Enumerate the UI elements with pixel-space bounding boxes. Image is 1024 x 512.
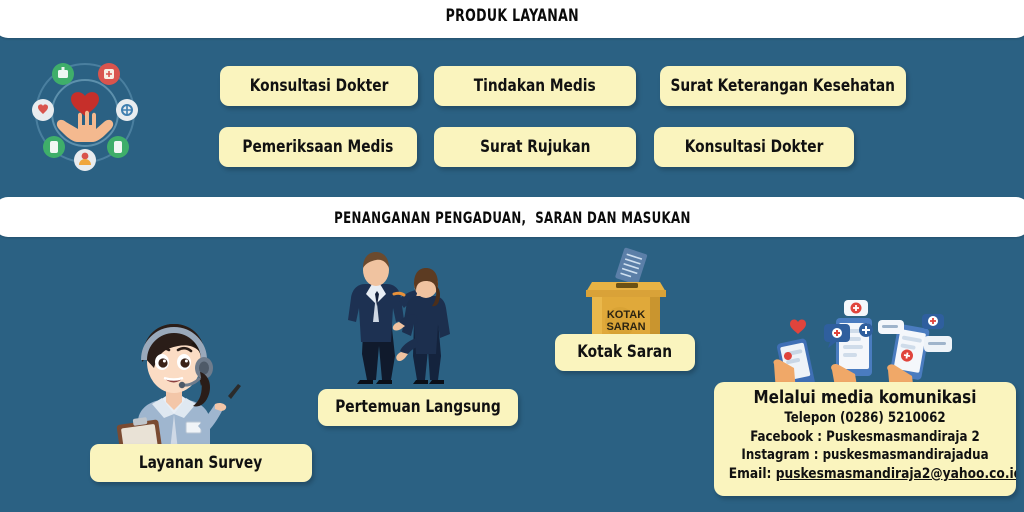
contact-card-media-komunikasi[interactable]: Melalui media komunikasi Telepon (0286) … bbox=[714, 382, 1016, 496]
contact-heading: Melalui media komunikasi bbox=[729, 387, 1002, 409]
two-people-meeting-icon bbox=[332, 252, 458, 384]
contact-email-address[interactable]: puskesmasmandiraja2@yahoo.co.id bbox=[776, 466, 1016, 482]
product-pill-konsultasi-dokter-2[interactable]: Konsultasi Dokter bbox=[654, 127, 854, 167]
banner-produk-title: PRODUK LAYANAN bbox=[445, 2, 578, 26]
banner-produk-layanan: PRODUK LAYANAN bbox=[0, 0, 1024, 38]
contact-phone: Telepon (0286) 5210062 bbox=[729, 409, 1002, 428]
contact-email-prefix: Email: bbox=[729, 466, 776, 482]
channel-pill-label: Pertemuan Langsung bbox=[335, 399, 501, 416]
call-center-operator-icon bbox=[100, 300, 250, 460]
product-pill-label: Konsultasi Dokter bbox=[250, 78, 389, 95]
contact-instagram: Instagram : puskesmasmandirajadua bbox=[729, 446, 1002, 465]
channel-pill-kotak-saran[interactable]: Kotak Saran bbox=[555, 334, 695, 371]
channel-pill-label: Kotak Saran bbox=[578, 344, 673, 361]
contact-email: Email: puskesmasmandiraja2@yahoo.co.id bbox=[729, 465, 1002, 484]
banner-penanganan-pengaduan: PENANGANAN PENGADUAN, SARAN DAN MASUKAN bbox=[0, 197, 1024, 237]
product-pill-surat-keterangan-kesehatan[interactable]: Surat Keterangan Kesehatan bbox=[660, 66, 906, 106]
product-pill-label: Tindakan Medis bbox=[474, 78, 596, 95]
suggestion-box-text-line1: KOTAK bbox=[607, 309, 645, 321]
product-pill-tindakan-medis[interactable]: Tindakan Medis bbox=[434, 66, 636, 106]
healthcare-hands-heart-icon bbox=[26, 52, 144, 174]
product-pill-label: Konsultasi Dokter bbox=[685, 139, 824, 156]
poster-canvas: PRODUK LAYANAN Konsultasi Dokter bbox=[0, 0, 1024, 512]
product-pill-pemeriksaan-medis[interactable]: Pemeriksaan Medis bbox=[219, 127, 417, 167]
product-pill-label: Surat Keterangan Kesehatan bbox=[671, 78, 895, 95]
channel-pill-layanan-survey[interactable]: Layanan Survey bbox=[90, 444, 312, 482]
suggestion-box-text-line2: SARAN bbox=[606, 321, 645, 333]
contact-facebook: Facebook : Puskesmasmandiraja 2 bbox=[729, 428, 1002, 447]
product-pill-konsultasi-dokter[interactable]: Konsultasi Dokter bbox=[220, 66, 418, 106]
product-pill-label: Surat Rujukan bbox=[480, 139, 590, 156]
channel-pill-label: Layanan Survey bbox=[139, 455, 262, 472]
hands-holding-phones-icon bbox=[758, 300, 954, 392]
product-pill-surat-rujukan[interactable]: Surat Rujukan bbox=[434, 127, 636, 167]
channel-pill-pertemuan-langsung[interactable]: Pertemuan Langsung bbox=[318, 389, 518, 426]
banner-pengaduan-title: PENANGANAN PENGADUAN, SARAN DAN MASUKAN bbox=[334, 208, 691, 227]
product-pill-label: Pemeriksaan Medis bbox=[243, 139, 394, 156]
